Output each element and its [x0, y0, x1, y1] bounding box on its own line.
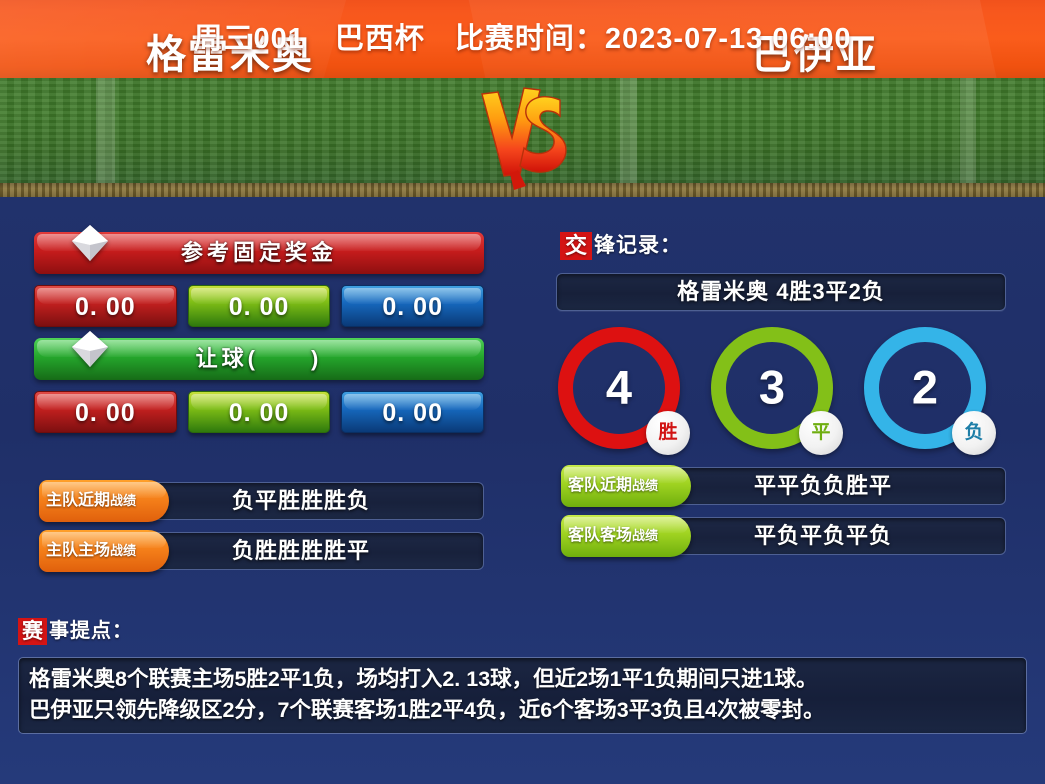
- page-title: 周三001 巴西杯 比赛时间：2023-07-13 06:00: [0, 0, 1045, 78]
- ring-lose-value: 2: [864, 364, 986, 411]
- handicap-odd-draw-value: 0. 00: [189, 392, 330, 433]
- ring-win: 4 胜: [558, 327, 680, 449]
- ring-lose-tag: 负: [952, 411, 996, 455]
- away-away-label-main: 客队客场: [568, 527, 632, 544]
- ring-draw-value: 3: [711, 364, 833, 411]
- fixed-odd-away[interactable]: 0. 00: [341, 285, 484, 327]
- ring-lose: 2 负: [864, 327, 986, 449]
- home-recent-record-label: 主队近期战绩: [39, 480, 169, 522]
- pitch-stripe: [960, 78, 976, 183]
- fixed-odd-away-value: 0. 00: [342, 286, 483, 327]
- match-preview-page: 周三001 巴西杯 比赛时间：2023-07-13 06:00 格雷米奥 巴伊亚: [0, 0, 1045, 784]
- handicap-odd-away[interactable]: 0. 00: [341, 391, 484, 433]
- right-column: 交锋记录： 格雷米奥 4胜3平2负 4 胜 3 平 2 负: [556, 232, 1006, 567]
- pitch-stripe: [620, 78, 637, 183]
- away-recent-label-main: 客队近期: [568, 477, 632, 494]
- home-home-record-value: 负胜胜胜胜平: [118, 532, 484, 570]
- handicap-odd-away-value: 0. 00: [342, 392, 483, 433]
- head-to-head-badge: 交: [560, 232, 592, 260]
- away-away-record-label: 客队客场战绩: [561, 515, 691, 557]
- handicap-odd-draw[interactable]: 0. 00: [188, 391, 331, 433]
- head-to-head-rings: 4 胜 3 平 2 负: [556, 327, 1006, 455]
- home-recent-label-main: 主队近期: [46, 492, 110, 509]
- home-home-record-row: 主队主场战绩 负胜胜胜胜平: [34, 532, 484, 570]
- analysis-heading: 赛事提点：: [18, 618, 1027, 650]
- analysis-badge: 赛: [18, 618, 47, 645]
- fixed-odd-home[interactable]: 0. 00: [34, 285, 177, 327]
- left-column: 参考固定奖金 0. 00 0. 00 0. 00: [34, 232, 484, 582]
- analysis-line-2: 巴伊亚只领先降级区2分，7个联赛客场1胜2平4负，近6个客场3平3负且4次被零封…: [29, 695, 1016, 726]
- fixed-odd-home-value: 0. 00: [35, 286, 176, 327]
- header-bar: 周三001 巴西杯 比赛时间：2023-07-13 06:00: [0, 0, 1045, 78]
- handicap-odd-home[interactable]: 0. 00: [34, 391, 177, 433]
- away-away-record-row: 客队客场战绩 平负平负平负: [556, 517, 1006, 555]
- analysis-section: 赛事提点： 格雷米奥8个联赛主场5胜2平1负，场均打入2. 13球，但近2场1平…: [18, 618, 1027, 734]
- head-to-head-heading: 交锋记录：: [556, 232, 1006, 264]
- fixed-odd-draw[interactable]: 0. 00: [188, 285, 331, 327]
- ring-draw-tag: 平: [799, 411, 843, 455]
- fixed-prize-odds-row: 0. 00 0. 00 0. 00: [34, 285, 484, 327]
- away-recent-record-label: 客队近期战绩: [561, 465, 691, 507]
- head-to-head-summary: 格雷米奥 4胜3平2负: [557, 274, 1005, 310]
- home-home-record-label: 主队主场战绩: [39, 530, 169, 572]
- home-recent-record-row: 主队近期战绩 负平胜胜胜负: [34, 482, 484, 520]
- away-away-label-sub: 战绩: [632, 528, 658, 543]
- analysis-box: 格雷米奥8个联赛主场5胜2平1负，场均打入2. 13球，但近2场1平1负期间只进…: [18, 657, 1027, 734]
- away-away-record-value: 平负平负平负: [640, 517, 1006, 555]
- head-to-head-title: 锋记录：: [594, 232, 682, 260]
- home-home-label-main: 主队主场: [46, 542, 110, 559]
- home-recent-record-value: 负平胜胜胜负: [118, 482, 484, 520]
- fixed-odd-draw-value: 0. 00: [189, 286, 330, 327]
- away-recent-record-value: 平平负负胜平: [640, 467, 1006, 505]
- home-recent-label-sub: 战绩: [110, 493, 136, 508]
- pitch-stripe: [96, 78, 115, 183]
- handicap-odds-row: 0. 00 0. 00 0. 00: [34, 391, 484, 433]
- vs-icon: [468, 82, 578, 192]
- analysis-line-1: 格雷米奥8个联赛主场5胜2平1负，场均打入2. 13球，但近2场1平1负期间只进…: [29, 664, 1016, 695]
- handicap-title-bar: 让球( ): [34, 338, 484, 380]
- diamond-icon: [70, 329, 110, 369]
- diamond-icon: [70, 223, 110, 263]
- ring-win-value: 4: [558, 364, 680, 411]
- head-to-head-summary-bar: 格雷米奥 4胜3平2负: [556, 273, 1006, 311]
- ring-win-tag: 胜: [646, 411, 690, 455]
- away-recent-label-sub: 战绩: [632, 478, 658, 493]
- ring-draw: 3 平: [711, 327, 833, 449]
- away-recent-record-row: 客队近期战绩 平平负负胜平: [556, 467, 1006, 505]
- analysis-title: 事提点：: [49, 618, 133, 645]
- home-home-label-sub: 战绩: [110, 543, 136, 558]
- handicap-odd-home-value: 0. 00: [35, 392, 176, 433]
- fixed-prize-title-bar: 参考固定奖金: [34, 232, 484, 274]
